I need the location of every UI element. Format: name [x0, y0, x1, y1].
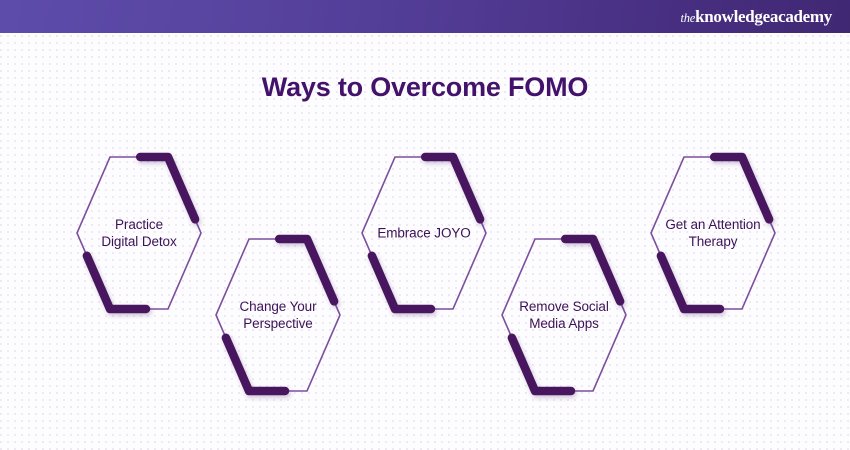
infographic-canvas: theknowledgeacademy Ways to Overcome FOM… [0, 0, 850, 450]
hexagon-accent-bottom-left [226, 338, 285, 391]
hexagon-accent-bottom-left [661, 256, 720, 309]
hexagon-label-line1: Remove Social [489, 298, 639, 315]
hexagon-accent-bottom-left [372, 256, 431, 309]
hexagon-accent-top-right [425, 157, 480, 219]
hexagon-group [77, 157, 775, 391]
hexagon-label-line1: Embrace JOYO [349, 225, 499, 242]
page-title: Ways to Overcome FOMO [0, 72, 850, 103]
hexagon-label-2[interactable]: Change YourPerspective [203, 298, 353, 332]
hexagon-label-3[interactable]: Embrace JOYO [349, 225, 499, 242]
brand-name: knowledgeacademy [695, 7, 832, 26]
hexagon-label-line1: Change Your [203, 298, 353, 315]
hexagon-label-line2: Digital Detox [64, 233, 214, 250]
hexagon-accent-top-right [714, 157, 769, 219]
hexagon-label-line2: Media Apps [489, 315, 639, 332]
header-bar: theknowledgeacademy [0, 0, 850, 33]
hexagon-label-line1: Get an Attention [638, 216, 788, 233]
hexagon-label-line2: Therapy [638, 233, 788, 250]
hexagon-label-line2: Perspective [203, 315, 353, 332]
brand-prefix: the [680, 11, 695, 25]
hexagon-accent-top-right [565, 239, 620, 301]
hexagon-accent-bottom-left [87, 256, 146, 309]
hexagon-accent-top-right [140, 157, 195, 219]
hexagon-chain-diagram: PracticeDigital DetoxChange YourPerspect… [0, 0, 850, 450]
hexagon-label-5[interactable]: Get an AttentionTherapy [638, 216, 788, 250]
brand-logo: theknowledgeacademy [680, 8, 832, 25]
hexagon-label-line1: Practice [64, 216, 214, 233]
hexagon-label-1[interactable]: PracticeDigital Detox [64, 216, 214, 250]
hexagon-accent-top-right [279, 239, 334, 301]
hexagon-accent-bottom-left [512, 338, 571, 391]
hexagon-label-4[interactable]: Remove SocialMedia Apps [489, 298, 639, 332]
